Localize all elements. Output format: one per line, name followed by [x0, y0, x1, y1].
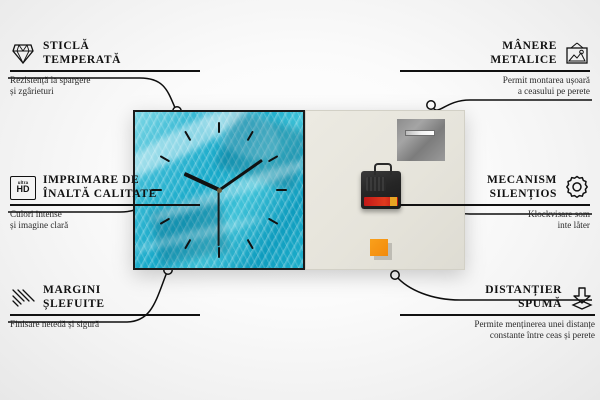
ultra-hd-icon: ultra HD	[10, 176, 36, 200]
feature-title-line2: SPUMĂ	[485, 298, 562, 312]
metal-hanger-part	[397, 119, 445, 161]
feature-subtitle-line1: Rezistență la spargere	[10, 75, 200, 87]
feature-title-line2: ÎNALTĂ CALITATE	[43, 188, 157, 202]
clock-hand-second	[218, 190, 220, 246]
feature-subtitle-line1: Klockvisare som	[400, 209, 590, 221]
leader-dot-foam	[391, 271, 399, 279]
feature-title-line2: SILENȚIOS	[487, 188, 557, 202]
feature-subtitle-line1: Permite menținerea unei distanțe	[400, 319, 595, 331]
feature-divider	[10, 204, 200, 206]
feature-subtitle-line2: și zgârieturi	[10, 86, 200, 98]
feature-subtitle-line2: constante între ceas și perete	[400, 330, 595, 342]
feature-title-line1: MARGINI	[43, 284, 105, 298]
gear-icon	[564, 176, 590, 200]
feature-divider	[400, 70, 590, 72]
clock-mechanism-part	[361, 171, 401, 209]
foam-spacer-icon	[569, 286, 595, 310]
feature-divider	[10, 70, 200, 72]
feature-title-line2: TEMPERATĂ	[43, 54, 121, 68]
feature-title-line1: MECANISM	[487, 174, 557, 188]
feature-silent-mechanism: MECANISM SILENȚIOS Klockvisare som inte …	[400, 174, 590, 232]
ultra-hd-large-text: HD	[17, 185, 30, 194]
feature-title-line2: ȘLEFUITE	[43, 298, 105, 312]
feature-polished-edges: MARGINI ȘLEFUITE Finisare netedă și sigu…	[10, 284, 200, 330]
feature-subtitle-line2: și imagine clară	[10, 220, 200, 232]
feature-metal-hangers: MÂNERE METALICE Permit montarea ușoară a…	[400, 40, 590, 98]
picture-hanger-icon	[564, 42, 590, 66]
feature-subtitle-line2: a ceasului pe perete	[400, 86, 590, 98]
feature-divider	[400, 204, 590, 206]
feature-subtitle-line1: Culori intense	[10, 209, 200, 221]
feature-title-line2: METALICE	[490, 54, 557, 68]
feature-tempered-glass: STICLĂ TEMPERATĂ Rezistență la spargere …	[10, 40, 200, 98]
leader-dot-hanger	[427, 101, 435, 109]
feature-subtitle-line1: Permit montarea ușoară	[400, 75, 590, 87]
clock-center-cap	[217, 188, 222, 193]
leader-line-hanger	[432, 100, 592, 110]
feature-title-line1: IMPRIMARE DE	[43, 174, 157, 188]
infographic-stage: STICLĂ TEMPERATĂ Rezistență la spargere …	[0, 0, 600, 400]
feature-subtitle-line1: Finisare netedă și sigură	[10, 319, 200, 331]
feature-title-line1: STICLĂ	[43, 40, 121, 54]
feature-title-line1: MÂNERE	[490, 40, 557, 54]
polished-edges-icon	[10, 286, 36, 310]
feature-divider	[400, 314, 595, 316]
battery-part	[364, 197, 398, 206]
feature-hq-printing: ultra HD IMPRIMARE DE ÎNALTĂ CALITATE Cu…	[10, 174, 200, 232]
feature-title-line1: DISTANȚIER	[485, 284, 562, 298]
diamond-icon	[10, 42, 36, 66]
foam-spacer-part	[370, 239, 388, 256]
feature-foam-spacer: DISTANȚIER SPUMĂ Permite menținerea unei…	[400, 284, 595, 342]
feature-subtitle-line2: inte låter	[400, 220, 590, 232]
feature-divider	[10, 314, 200, 316]
